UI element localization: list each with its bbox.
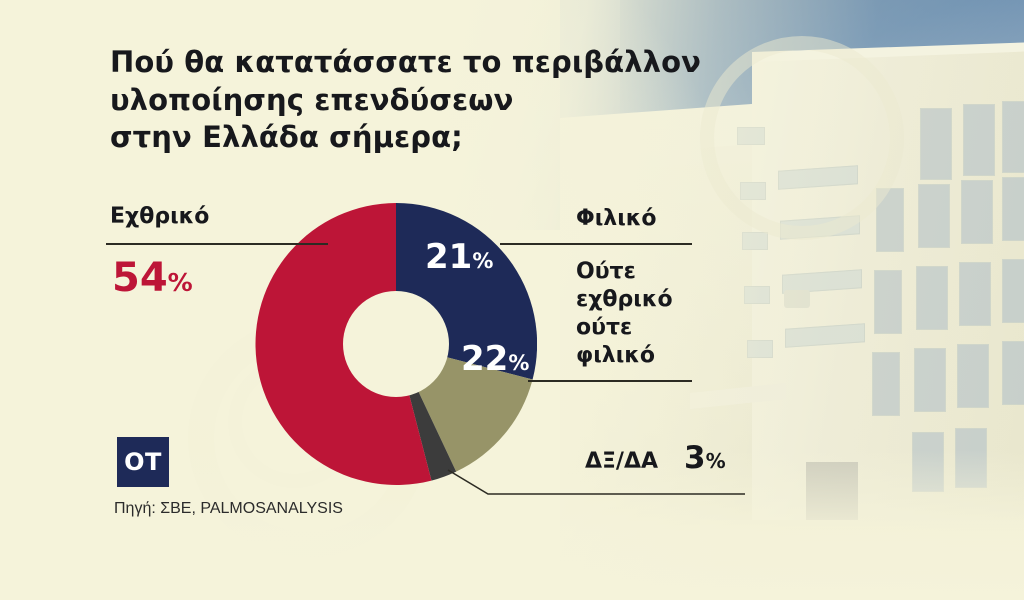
callout-value-hostile: 54% bbox=[112, 258, 193, 298]
title-line-1: Πού θα κατατάσσατε το περιβάλλον bbox=[110, 44, 750, 82]
title-line-3: στην Ελλάδα σήμερα; bbox=[110, 119, 750, 157]
callout-label-neutral-line-4: φιλικό bbox=[576, 342, 673, 370]
ot-logo: OT bbox=[117, 437, 169, 487]
callout-label-neutral: Ούτε εχθρικό ούτε φιλικό bbox=[576, 258, 673, 370]
callout-rule-hostile bbox=[106, 243, 328, 245]
infographic-canvas: Πού θα κατατάσσατε το περιβάλλον υλοποίη… bbox=[0, 0, 1024, 600]
callout-label-neutral-line-3: ούτε bbox=[576, 314, 673, 342]
callout-label-hostile: Εχθρικό bbox=[110, 203, 209, 231]
page-title: Πού θα κατατάσσατε το περιβάλλον υλοποίη… bbox=[110, 44, 750, 157]
title-line-2: υλοποίησης επενδύσεων bbox=[110, 82, 750, 120]
callout-leader-dk-da bbox=[440, 462, 750, 502]
callout-label-friendly: Φιλικό bbox=[576, 205, 657, 233]
callout-label-neutral-line-2: εχθρικό bbox=[576, 286, 673, 314]
donut-hole bbox=[343, 291, 449, 397]
slice-label-friendly: 21% bbox=[425, 240, 493, 274]
callout-rule-friendly bbox=[500, 243, 692, 245]
ot-logo-text: OT bbox=[124, 448, 162, 476]
callout-label-neutral-line-1: Ούτε bbox=[576, 258, 673, 286]
source-note: Πηγή: ΣΒΕ, PALMOSANALYSIS bbox=[114, 500, 343, 518]
callout-rule-neutral bbox=[528, 380, 692, 382]
slice-label-neutral: 22% bbox=[461, 342, 529, 376]
